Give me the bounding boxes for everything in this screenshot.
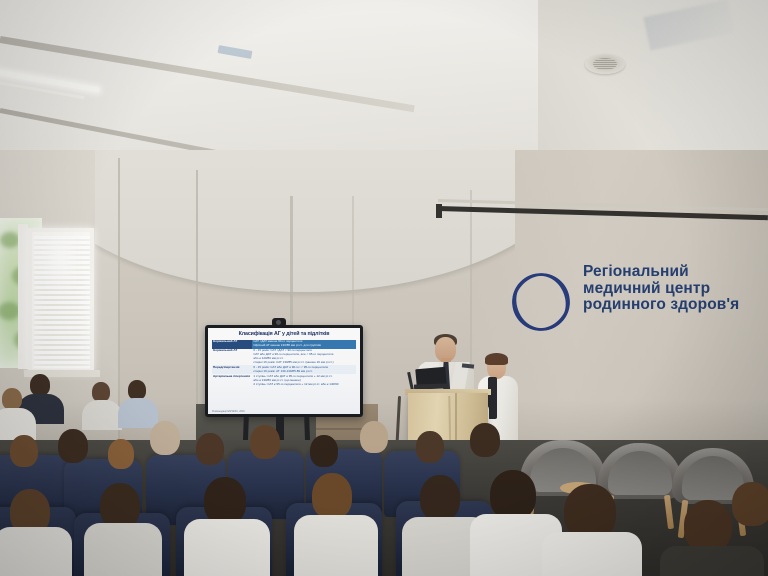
audience-head [58, 429, 88, 463]
audience-head [360, 421, 388, 453]
audience-head [150, 421, 180, 455]
presentation-display[interactable]: Класифікація АГ у дітей та підлітків Нор… [205, 325, 363, 417]
row-label: Нормальний АТ [212, 349, 252, 366]
audience-shoulders [660, 546, 764, 576]
audience-head [204, 477, 246, 525]
wall-branding: Регіональний медичний центр родинного зд… [505, 262, 763, 344]
audience-head [490, 470, 536, 520]
curved-ceiling-bulkhead [95, 150, 515, 300]
interlocking-rings-logo [505, 266, 577, 338]
presenter-female-scarf [488, 377, 497, 419]
slide-title: Класифікація АГ у дітей та підлітків [212, 331, 356, 338]
presentation-slide: Класифікація АГ у дітей та підлітків Нор… [208, 328, 360, 414]
organization-name: Регіональний медичний центр родинного зд… [583, 264, 768, 314]
slide-table: Нормальний АТ САТ і ДАТ менше 90-го перц… [212, 340, 356, 388]
table-row: Передгіпертензія 6 - 15 років: САТ або Д… [212, 365, 356, 374]
ceiling-light-strip [0, 68, 100, 92]
presenter-female-fringe [485, 353, 508, 365]
row-value: 6 - 15 років: САТ і ДАТ < 90-го перценти… [252, 349, 356, 366]
audience-head [312, 473, 352, 519]
audience-head [10, 435, 38, 467]
audience-head [108, 439, 134, 469]
row-value: 6 - 15 років: САТ або ДАТ ≥ 90-го і < 95… [252, 365, 356, 374]
slide-footnote: Рекомендації ESH/ESC, 2016 [212, 410, 245, 413]
audience-head [420, 475, 460, 521]
audience-head [684, 500, 732, 552]
audience-head [196, 433, 224, 465]
audience-shoulders [294, 515, 378, 576]
audience-head [250, 425, 280, 459]
org-line-1: Регіональний [583, 264, 768, 281]
conference-hall-photo: Регіональний медичний центр родинного зд… [0, 0, 768, 576]
org-line-3: родинного здоров'я [583, 297, 768, 314]
table-row: Артеріальна гіпертензія 1 ступінь: САТ а… [212, 374, 356, 387]
audience-head [310, 435, 338, 467]
curtain-rail-end-cap [436, 204, 442, 218]
audience-head [416, 431, 444, 463]
window-glare [34, 236, 90, 296]
row-label: Передгіпертензія [212, 365, 252, 374]
audience-shoulders [0, 527, 72, 576]
table-row: Нормальний АТ 6 - 15 років: САТ і ДАТ < … [212, 349, 356, 366]
ceiling-seam-1 [0, 36, 415, 112]
row-value: 1 ступінь: САТ або ДАТ ≥ 95-го перцентил… [252, 374, 356, 387]
audience-head [732, 482, 768, 526]
ceiling-vent-icon [218, 45, 253, 59]
ceiling-speaker-icon [585, 54, 625, 74]
audience-shoulders [84, 523, 162, 576]
row-label: Артеріальна гіпертензія [212, 374, 252, 387]
audience-shoulders [184, 519, 270, 576]
org-line-2: медичний центр [583, 281, 768, 298]
window-mullion [18, 224, 28, 369]
audience-shoulders [542, 532, 642, 576]
display-screen: Класифікація АГ у дітей та підлітків Нор… [208, 328, 360, 414]
row-value-line: 2 ступінь: САТ ≥ 95-го перцентиля + 12 м… [253, 383, 355, 387]
audience-right [470, 440, 768, 576]
